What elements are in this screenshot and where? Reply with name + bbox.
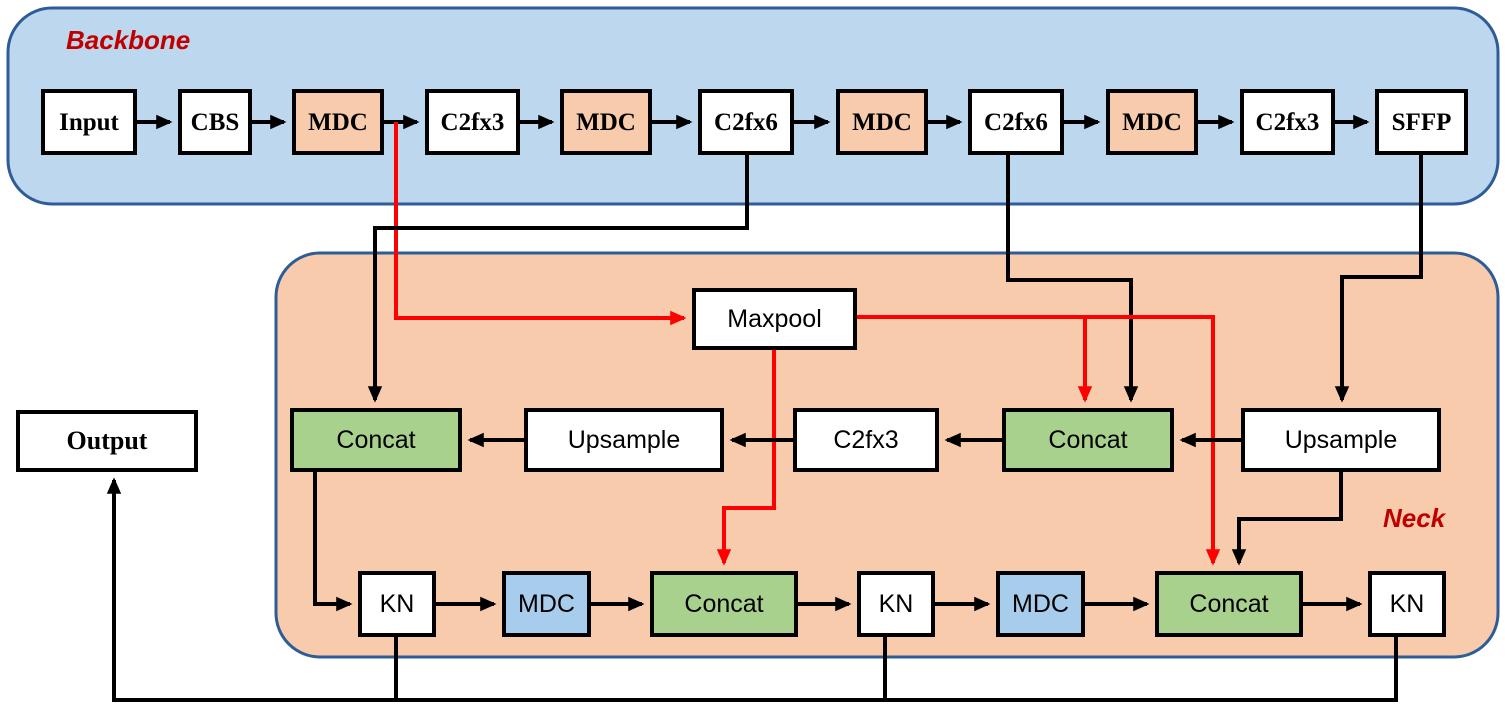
node-mdc-1[interactable]: MDC bbox=[292, 89, 384, 155]
node-mdc-3[interactable]: MDC bbox=[836, 89, 928, 155]
node-kn-3[interactable]: KN bbox=[1368, 571, 1446, 637]
node-label-c2fx6-2: C2fx6 bbox=[984, 110, 1048, 135]
node-c2fx3-2[interactable]: C2fx3 bbox=[1240, 89, 1335, 155]
node-maxpool[interactable]: Maxpool bbox=[692, 288, 857, 350]
node-input[interactable]: Input bbox=[41, 89, 137, 155]
node-mdc-2[interactable]: MDC bbox=[560, 89, 652, 155]
node-concat-2[interactable]: Concat bbox=[1002, 408, 1174, 472]
node-label-kn-3: KN bbox=[1390, 592, 1425, 617]
node-c2fx3-3[interactable]: C2fx3 bbox=[793, 408, 939, 472]
node-mdc-5[interactable]: MDC bbox=[502, 571, 591, 637]
node-label-kn-2: KN bbox=[879, 592, 914, 617]
node-label-concat-1: Concat bbox=[336, 428, 415, 453]
node-label-mdc-6: MDC bbox=[1012, 592, 1069, 617]
node-label-mdc-2: MDC bbox=[576, 110, 636, 135]
node-label-c2fx3-2: C2fx3 bbox=[1256, 110, 1320, 135]
node-label-mdc-1: MDC bbox=[308, 110, 368, 135]
node-cbs[interactable]: CBS bbox=[178, 89, 252, 155]
node-sffp[interactable]: SFFP bbox=[1375, 89, 1468, 155]
node-label-upsample-1: Upsample bbox=[568, 428, 681, 453]
node-c2fx3-1[interactable]: C2fx3 bbox=[425, 89, 520, 155]
node-mdc-6[interactable]: MDC bbox=[996, 571, 1085, 637]
neck-label: Neck bbox=[1383, 503, 1445, 534]
node-label-concat-2: Concat bbox=[1048, 428, 1127, 453]
node-mdc-4[interactable]: MDC bbox=[1106, 89, 1198, 155]
node-label-mdc-5: MDC bbox=[518, 592, 575, 617]
node-kn-1[interactable]: KN bbox=[358, 571, 436, 637]
node-label-sffp: SFFP bbox=[1392, 110, 1452, 135]
node-upsample-2[interactable]: Upsample bbox=[1241, 408, 1441, 472]
architecture-diagram: BackboneNeck InputCBSMDCC2fx3MDCC2fx6MDC… bbox=[0, 0, 1505, 710]
node-label-input: Input bbox=[59, 110, 119, 135]
node-concat-1[interactable]: Concat bbox=[290, 408, 462, 472]
node-label-c2fx3-3: C2fx3 bbox=[833, 428, 898, 453]
node-label-mdc-3: MDC bbox=[852, 110, 912, 135]
node-c2fx6-2[interactable]: C2fx6 bbox=[968, 89, 1064, 155]
node-output[interactable]: Output bbox=[16, 410, 198, 472]
node-kn-2[interactable]: KN bbox=[857, 571, 935, 637]
node-label-c2fx3-1: C2fx3 bbox=[441, 110, 505, 135]
node-label-c2fx6-1: C2fx6 bbox=[714, 110, 778, 135]
node-upsample-1[interactable]: Upsample bbox=[524, 408, 724, 472]
node-label-concat-3: Concat bbox=[684, 592, 763, 617]
node-label-output: Output bbox=[67, 428, 148, 454]
node-label-concat-4: Concat bbox=[1189, 592, 1268, 617]
node-label-upsample-2: Upsample bbox=[1285, 428, 1398, 453]
node-label-maxpool: Maxpool bbox=[727, 307, 822, 332]
node-label-cbs: CBS bbox=[191, 110, 240, 135]
node-label-kn-1: KN bbox=[380, 592, 415, 617]
node-c2fx6-1[interactable]: C2fx6 bbox=[698, 89, 794, 155]
backbone-label: Backbone bbox=[66, 25, 190, 56]
node-concat-4[interactable]: Concat bbox=[1155, 571, 1303, 637]
node-label-mdc-4: MDC bbox=[1122, 110, 1182, 135]
node-concat-3[interactable]: Concat bbox=[650, 571, 798, 637]
